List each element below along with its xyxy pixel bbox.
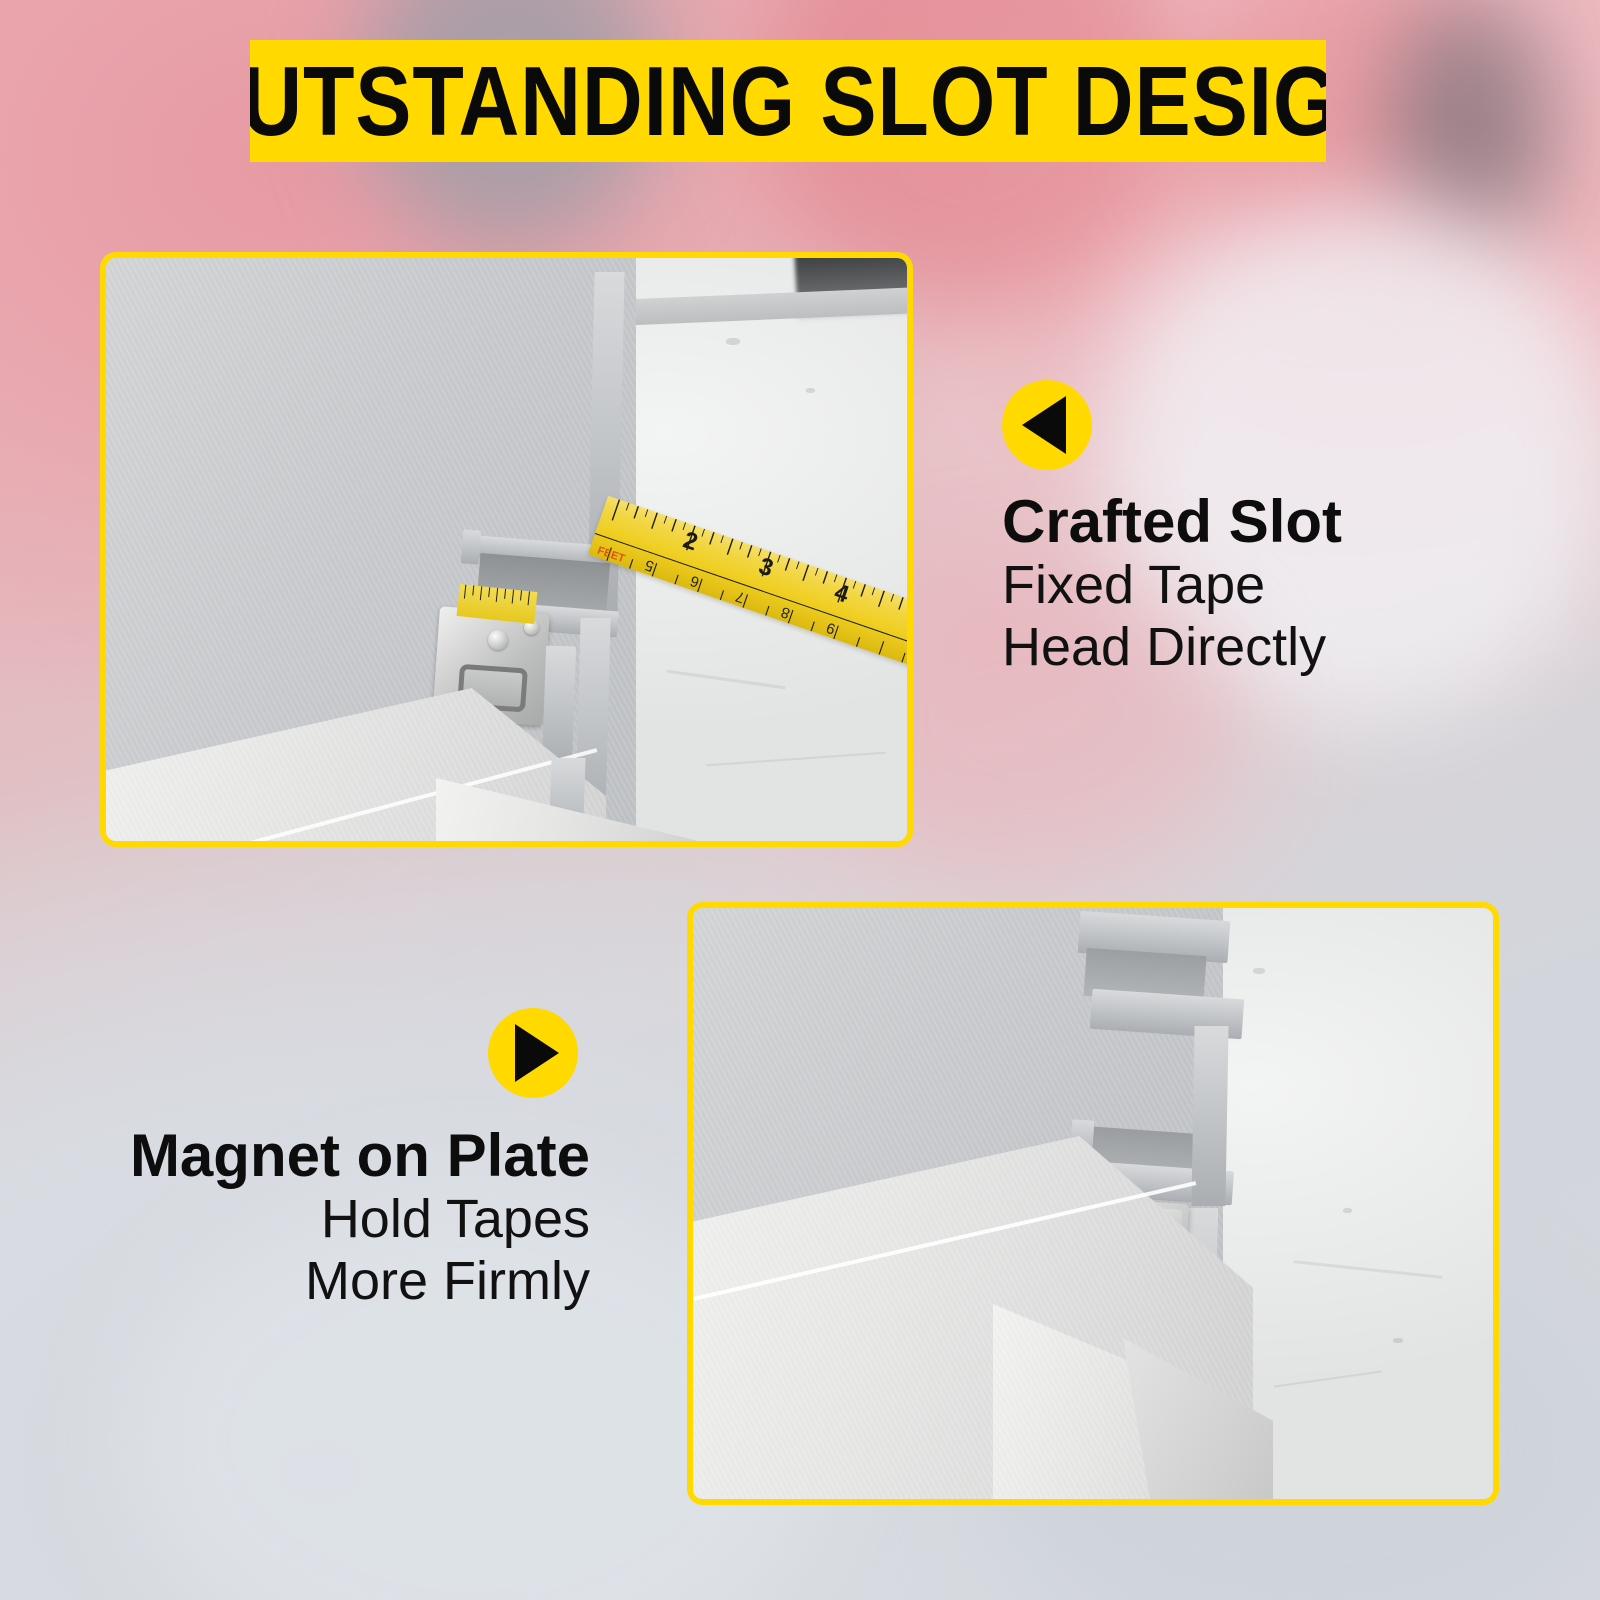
slot-retaining-tab <box>542 646 576 767</box>
triangle-right-icon <box>488 1008 578 1098</box>
triangle-left-glyph <box>1022 396 1066 454</box>
photo-slot-with-tape-content: 2 3 4 5 6 7 8 9 FEET <box>106 258 907 841</box>
title-banner: OUTSTANDING SLOT DESIGN <box>250 40 1326 162</box>
product-feature-poster: OUTSTANDING SLOT DESIGN <box>0 0 1600 1600</box>
callout-crafted-slot-body: Crafted Slot Fixed Tape Head Directly <box>1002 490 1342 679</box>
bench-speck <box>1393 1338 1403 1343</box>
callout-heading: Magnet on Plate <box>130 1124 590 1188</box>
triangle-left-icon <box>1002 380 1092 470</box>
callout-line-2: Head Directly <box>1002 616 1342 679</box>
bench-speck <box>1253 968 1265 974</box>
triangle-right-glyph <box>515 1024 559 1082</box>
page-title: OUTSTANDING SLOT DESIGN <box>250 52 1326 150</box>
callout-line-2: More Firmly <box>130 1250 590 1313</box>
slot-upper-tab-lip <box>461 529 482 564</box>
bench-speck <box>806 388 815 393</box>
hook-rivet <box>488 630 508 650</box>
callout-line-1: Hold Tapes <box>130 1188 590 1251</box>
tape-number-3: 3 <box>755 553 776 583</box>
photo-plate-with-magnet-content <box>693 908 1493 1499</box>
tape-number-2: 2 <box>680 527 701 557</box>
callout-magnet-on-plate-body: Magnet on Plate Hold Tapes More Firmly <box>130 1124 590 1313</box>
bench-speck <box>726 338 740 345</box>
callout-line-1: Fixed Tape <box>1002 554 1342 617</box>
fence-right-edge-upper <box>1191 1026 1228 1206</box>
callout-heading: Crafted Slot <box>1002 490 1342 554</box>
photo-slot-with-tape: 2 3 4 5 6 7 8 9 FEET <box>100 252 913 847</box>
photo-plate-with-magnet <box>687 902 1499 1505</box>
tape-number-4: 4 <box>831 579 853 609</box>
bench-speck <box>1343 1208 1352 1213</box>
